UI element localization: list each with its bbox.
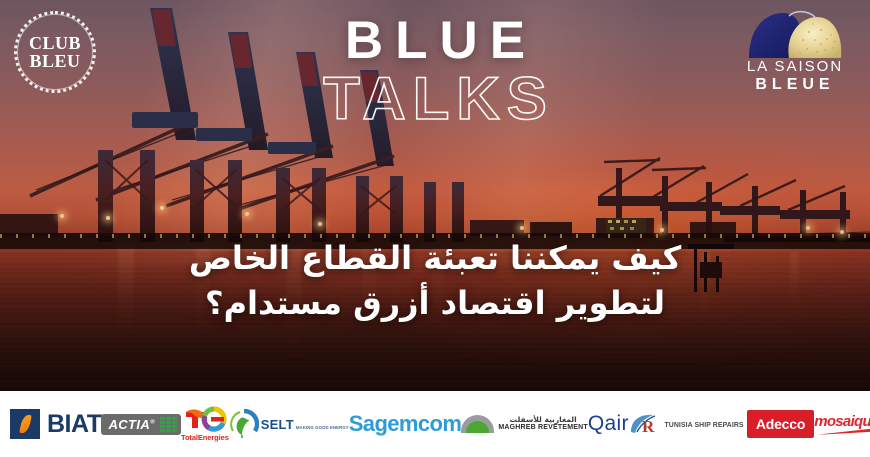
dock-lamp [520,226,524,230]
sponsor-logo-tunisia-ship-repairs[interactable]: R TUNISIA SHIP REPAIRS [629,412,747,436]
actia-grid-icon [160,417,177,432]
sponsor-logo-sagemcom[interactable]: Sagemcom [349,411,462,437]
sagemcom-wordmark: Sagemcom [349,411,462,437]
sponsor-logo-maghreb-revetement[interactable]: المغاربية للأسفلت MAGHREB REVETEMENT [461,415,588,433]
totalenergies-wordmark: TotalEnergies [181,433,229,442]
dock-lamp [60,214,64,218]
dock-lamp [160,206,164,210]
dock-lamp [660,228,664,232]
sponsor-bar: BIAT ACTIA® TotalEnergies [0,391,870,457]
maghreb-latin-name: MAGHREB REVETEMENT [498,424,588,432]
maghreb-arabic-name: المغاربية للأسفلت [498,416,588,424]
sponsor-logo-mosaique-fm[interactable]: mosaiquefm [814,413,870,435]
dock-lamp [318,222,322,226]
dock-lamp [840,230,844,234]
la-saison-bleue-wordmark: LA SAISON BLEUE [736,59,854,94]
totalenergies-mark-icon [183,406,227,432]
selt-wordmark: SELTMAKING GOOD ENERGY [261,417,349,432]
dock-lamp [245,212,249,216]
headline-line-1: كيف يمكننا تعبئة القطاع الخاص [40,236,830,281]
club-bleu-wordmark: CLUB BLEU [29,34,81,71]
arabic-headline: كيف يمكننا تعبئة القطاع الخاص لتطوير اقت… [40,236,830,327]
actia-wordmark: ACTIA® [108,417,155,432]
tsr-wordmark: TUNISIA SHIP REPAIRS [664,420,743,429]
sponsor-logo-totalenergies[interactable]: TotalEnergies [181,406,229,442]
mosaique-wordmark: mosaiquefm [814,413,870,430]
tsr-monogram-icon: R [629,412,659,436]
svg-text:R: R [642,417,655,436]
club-bleu-logo: CLUB BLEU [14,11,96,93]
sponsor-logo-selt[interactable]: SELTMAKING GOOD ENERGY [229,409,349,439]
sponsor-logo-qair[interactable]: Qair [588,412,629,436]
maghreb-wordmark: المغاربية للأسفلت MAGHREB REVETEMENT [498,416,588,432]
qair-wordmark: Qair [588,412,629,436]
saison-line1: LA SAISON [736,59,854,76]
dock-lamp [806,226,810,230]
sponsor-logo-actia[interactable]: ACTIA® [101,414,181,435]
la-saison-bleue-logo: LA SAISON BLEUE [736,6,854,98]
adecco-wordmark: Adecco [756,416,805,432]
sponsor-logo-adecco[interactable]: Adecco [747,410,814,438]
sponsor-logo-biat[interactable]: BIAT [10,409,101,439]
club-bleu-line1: CLUB [29,34,81,52]
biat-emblem-icon [10,409,40,439]
selt-mark-icon [229,409,259,439]
poster-canvas: CLUB BLEU [0,0,870,457]
maghreb-dome-icon [461,415,494,433]
club-bleu-line2: BLEU [29,52,81,70]
saison-line2: BLEUE [736,76,854,94]
headline-line-2: لتطوير اقتصاد أزرق مستدام؟ [40,281,830,326]
biat-wordmark: BIAT [47,410,101,439]
oyster-shell-icon [745,8,845,60]
dock-lamp [106,216,110,220]
